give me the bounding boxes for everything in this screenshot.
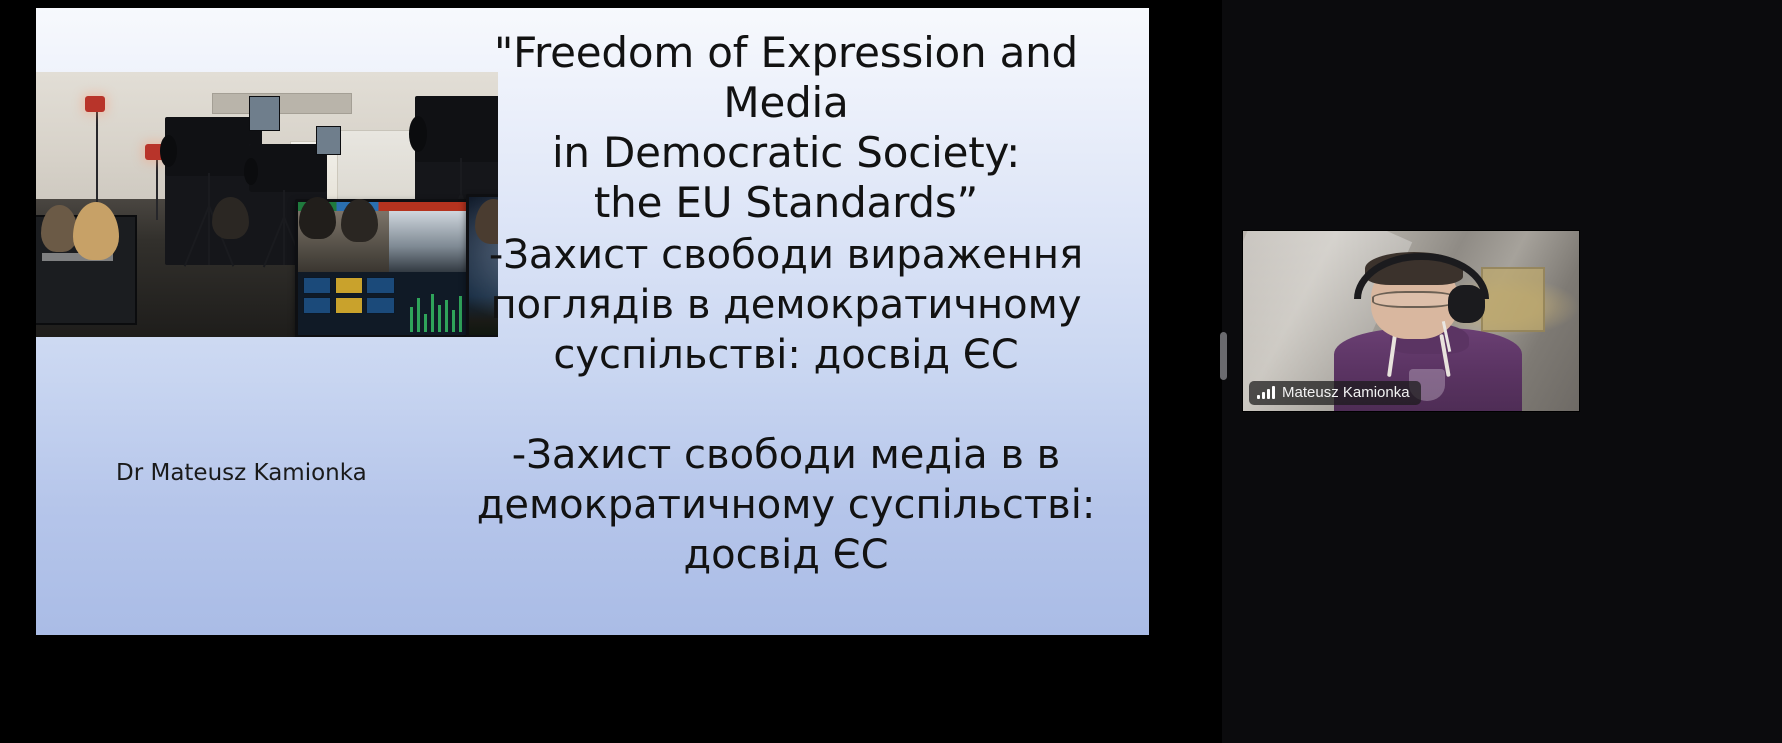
presentation-slide[interactable]: "Freedom of Expression and Media in Demo… xyxy=(36,8,1149,635)
slide-title-line-2: in Democratic Society: xyxy=(436,128,1136,178)
slide-title-line-1: "Freedom of Expression and Media xyxy=(436,28,1136,128)
slide-title-line-3: the EU Standards” xyxy=(436,178,1136,228)
participant-name-label: Mateusz Kamionka xyxy=(1282,384,1410,401)
slide-paragraph-2-line-2: демократичному суспільстві: xyxy=(436,480,1136,530)
participant-strip-scrollbar[interactable] xyxy=(1220,332,1227,380)
slide-author: Dr Mateusz Kamionka xyxy=(116,460,367,486)
photo-audience-head-5 xyxy=(341,199,378,241)
headphones-earcup xyxy=(1448,285,1485,323)
photo-light-stand-2 xyxy=(156,152,158,221)
signal-bars-icon xyxy=(1257,386,1275,399)
photo-audience-head-1 xyxy=(41,205,78,253)
slide-photo xyxy=(36,72,498,337)
photo-camera-1 xyxy=(165,117,262,265)
video-conference-window: "Freedom of Expression and Media in Demo… xyxy=(0,0,1782,743)
photo-light-head-1 xyxy=(85,96,105,112)
participant-hoodie-cord-left xyxy=(1387,334,1397,377)
slide-paragraph-2: -Захист свободи медіа в в демократичному… xyxy=(436,430,1136,580)
slide-paragraph-1-line-3: суспільстві: досвід ЄС xyxy=(436,330,1136,380)
photo-audience-head-3 xyxy=(212,197,249,239)
slide-paragraph-1-line-2: поглядів в демократичному xyxy=(436,280,1136,330)
participant-strip: Mateusz Kamionka xyxy=(1222,0,1782,743)
participant-video-tile[interactable]: Mateusz Kamionka xyxy=(1242,230,1580,412)
slide-paragraph-1-line-1: -Захист свободи вираження xyxy=(436,230,1136,280)
participant-name-badge: Mateusz Kamionka xyxy=(1249,381,1421,405)
slide-title: "Freedom of Expression and Media in Demo… xyxy=(436,28,1136,228)
background-picture-frame xyxy=(1481,267,1545,332)
slide-paragraph-1: -Захист свободи вираження поглядів в дем… xyxy=(436,230,1136,380)
shared-screen-area[interactable]: "Freedom of Expression and Media in Demo… xyxy=(0,0,1222,743)
slide-paragraph-2-line-1: -Захист свободи медіа в в xyxy=(436,430,1136,480)
slide-paragraph-2-line-3: досвід ЄС xyxy=(436,530,1136,580)
photo-ceiling-vent xyxy=(212,93,353,114)
